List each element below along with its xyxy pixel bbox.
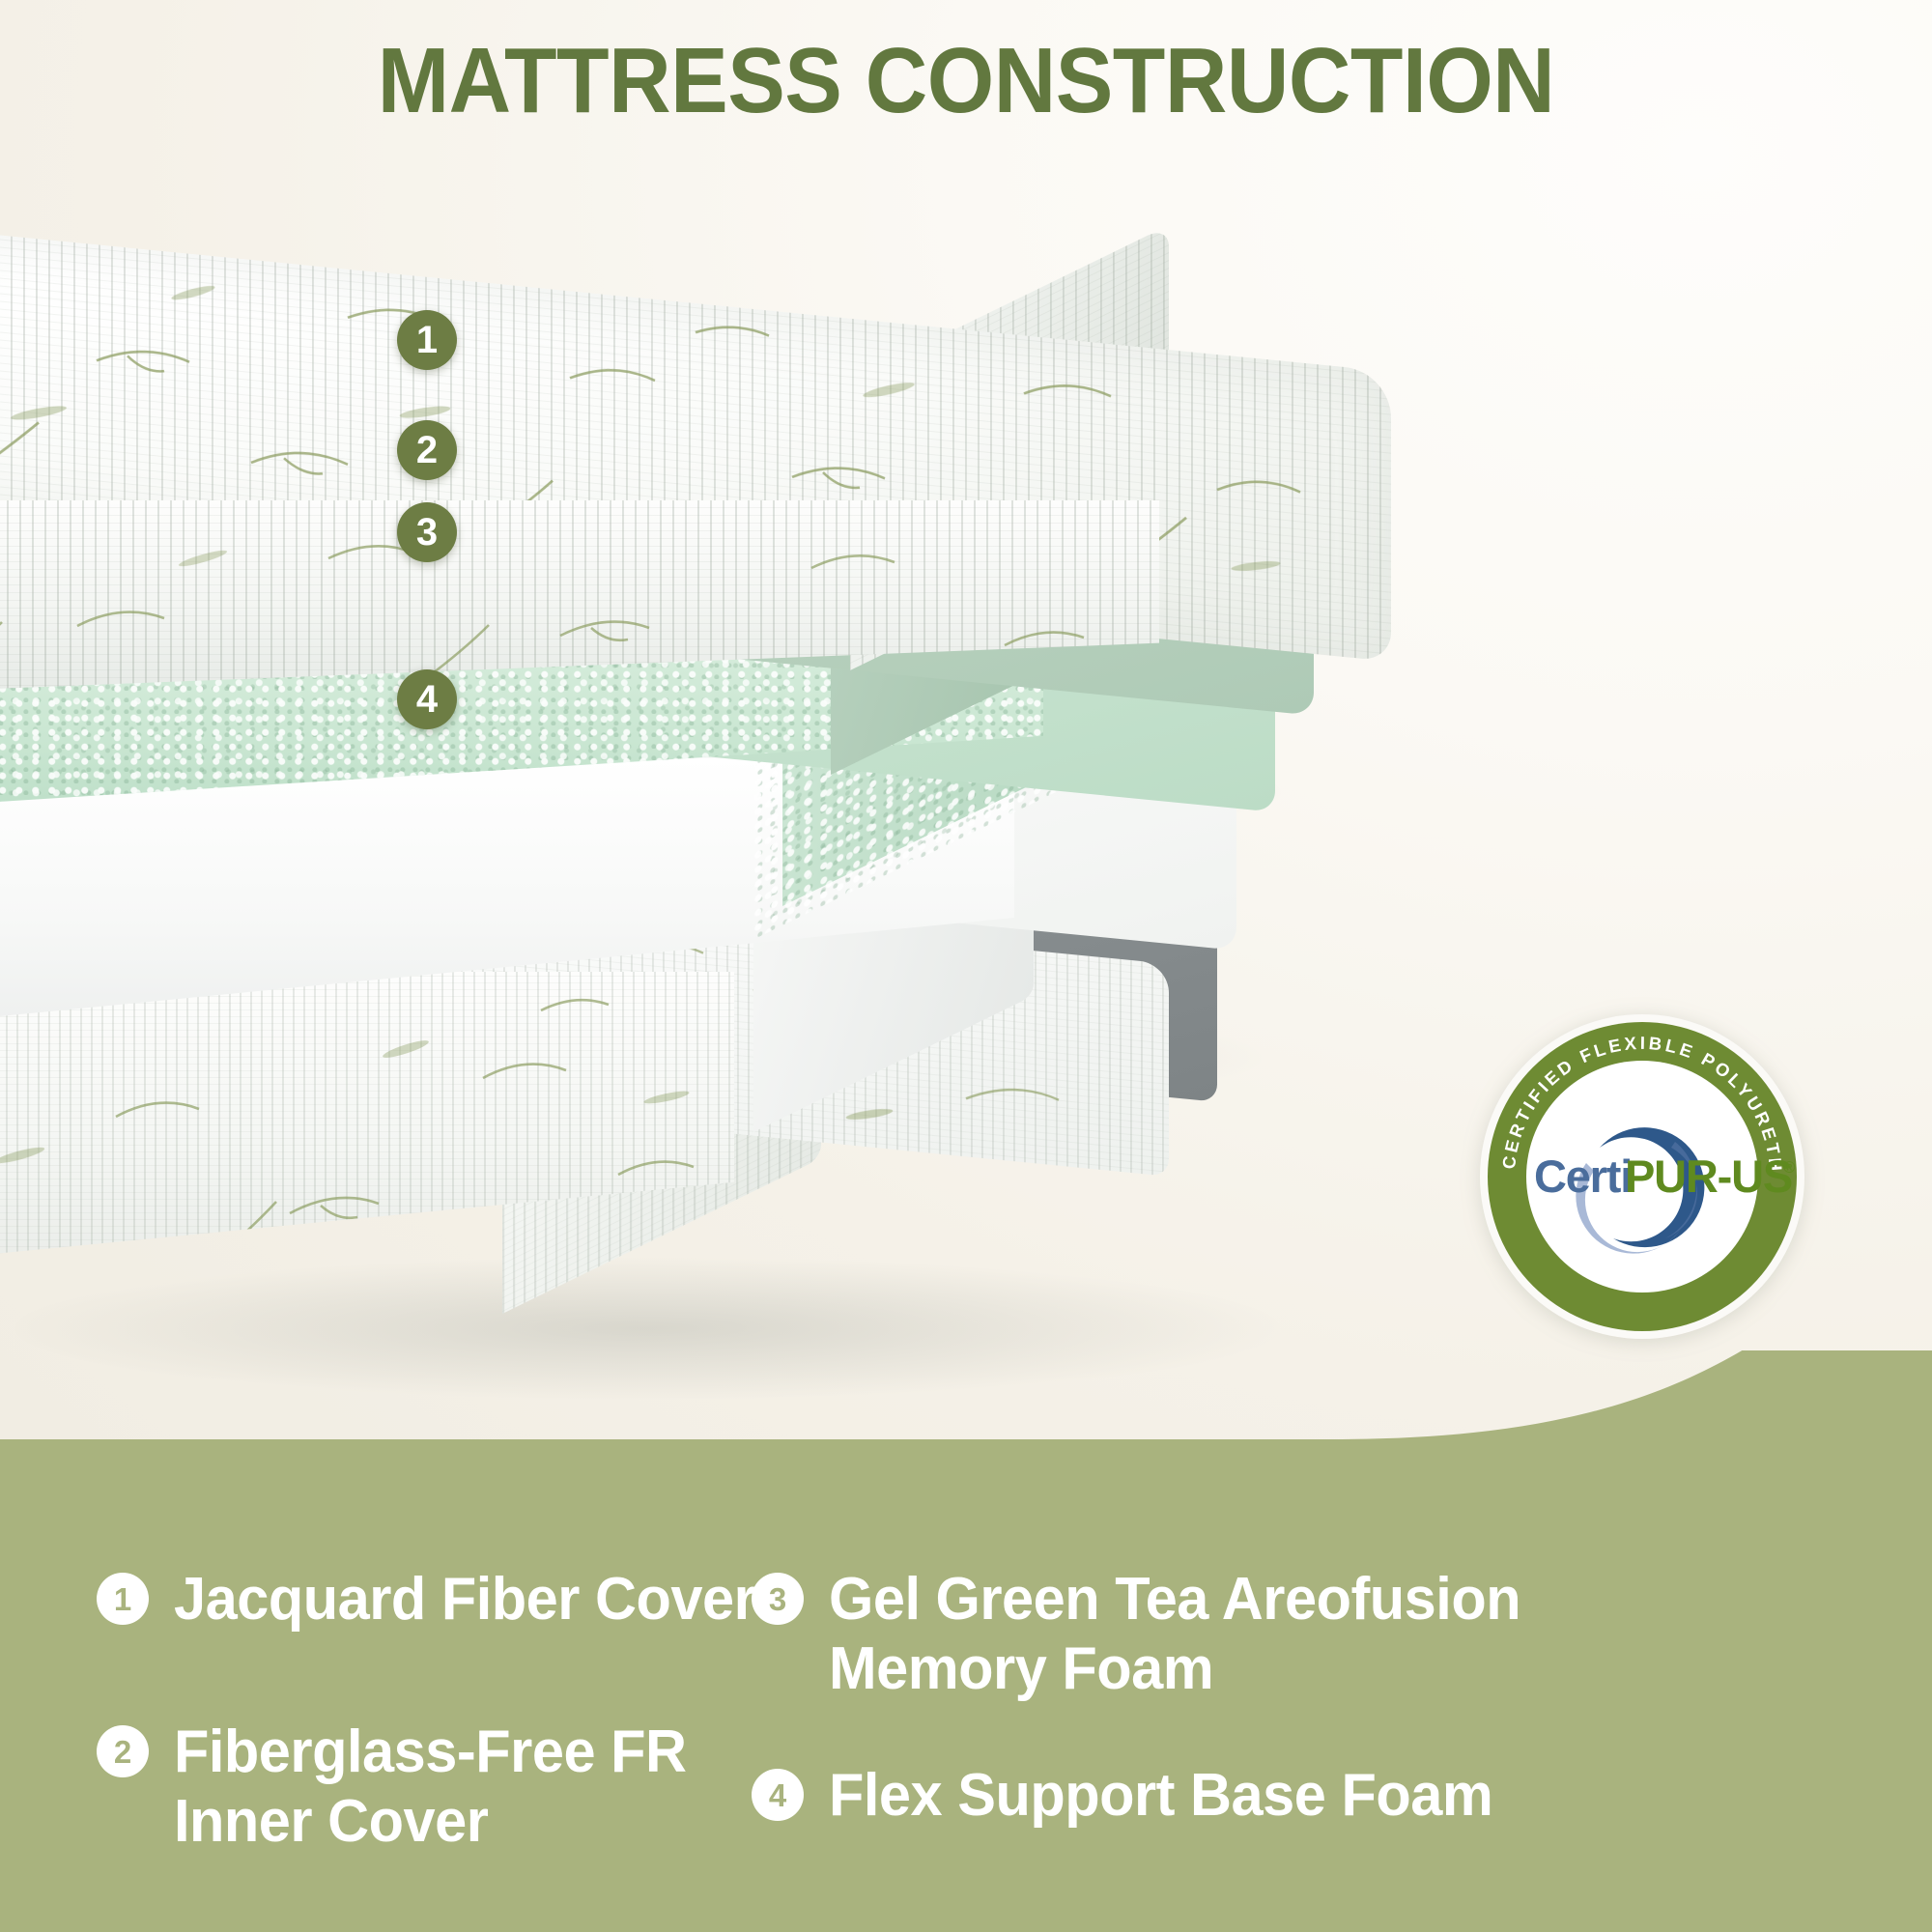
legend-label-4: Flex Support Base Foam: [829, 1761, 1492, 1831]
layer-badge-4[interactable]: 4: [397, 669, 457, 729]
certipur-us-badge: CONTAINS CERTIFIED FLEXIBLE POLYURETHANE…: [1480, 1014, 1804, 1339]
svg-text:Certi: Certi: [1534, 1151, 1632, 1202]
legend-label-1: Jacquard Fiber Cover: [174, 1565, 755, 1634]
legend-label-2: Fiberglass-Free FR Inner Cover: [174, 1718, 687, 1857]
legend-badge-4: 4: [752, 1769, 804, 1821]
legend-badge-3: 3: [752, 1573, 804, 1625]
legend-item-1[interactable]: 1 Jacquard Fiber Cover: [97, 1565, 780, 1634]
mattress-layer-1: [0, 211, 1391, 500]
legend-band: 1 Jacquard Fiber Cover 2 Fiberglass-Free…: [0, 1350, 1932, 1932]
svg-text:PUR-US: PUR-US: [1625, 1151, 1792, 1202]
layer-badge-3[interactable]: 3: [397, 502, 457, 562]
certipur-wordmark: Certi PUR-US ®: [1534, 1151, 1796, 1202]
svg-text:®: ®: [1783, 1158, 1796, 1177]
legend-item-4[interactable]: 4 Flex Support Base Foam: [752, 1761, 1520, 1831]
legend-item-3[interactable]: 3 Gel Green Tea Areofusion Memory Foam: [752, 1565, 1549, 1704]
layer-badge-2[interactable]: 2: [397, 420, 457, 480]
legend-badge-1: 1: [97, 1573, 149, 1625]
legend-badge-2: 2: [97, 1725, 149, 1777]
legend-list: 1 Jacquard Fiber Cover 2 Fiberglass-Free…: [0, 1350, 1932, 1932]
legend-item-2[interactable]: 2 Fiberglass-Free FR Inner Cover: [97, 1718, 708, 1857]
legend-label-3: Gel Green Tea Areofusion Memory Foam: [829, 1565, 1520, 1704]
layer-badge-1[interactable]: 1: [397, 310, 457, 370]
